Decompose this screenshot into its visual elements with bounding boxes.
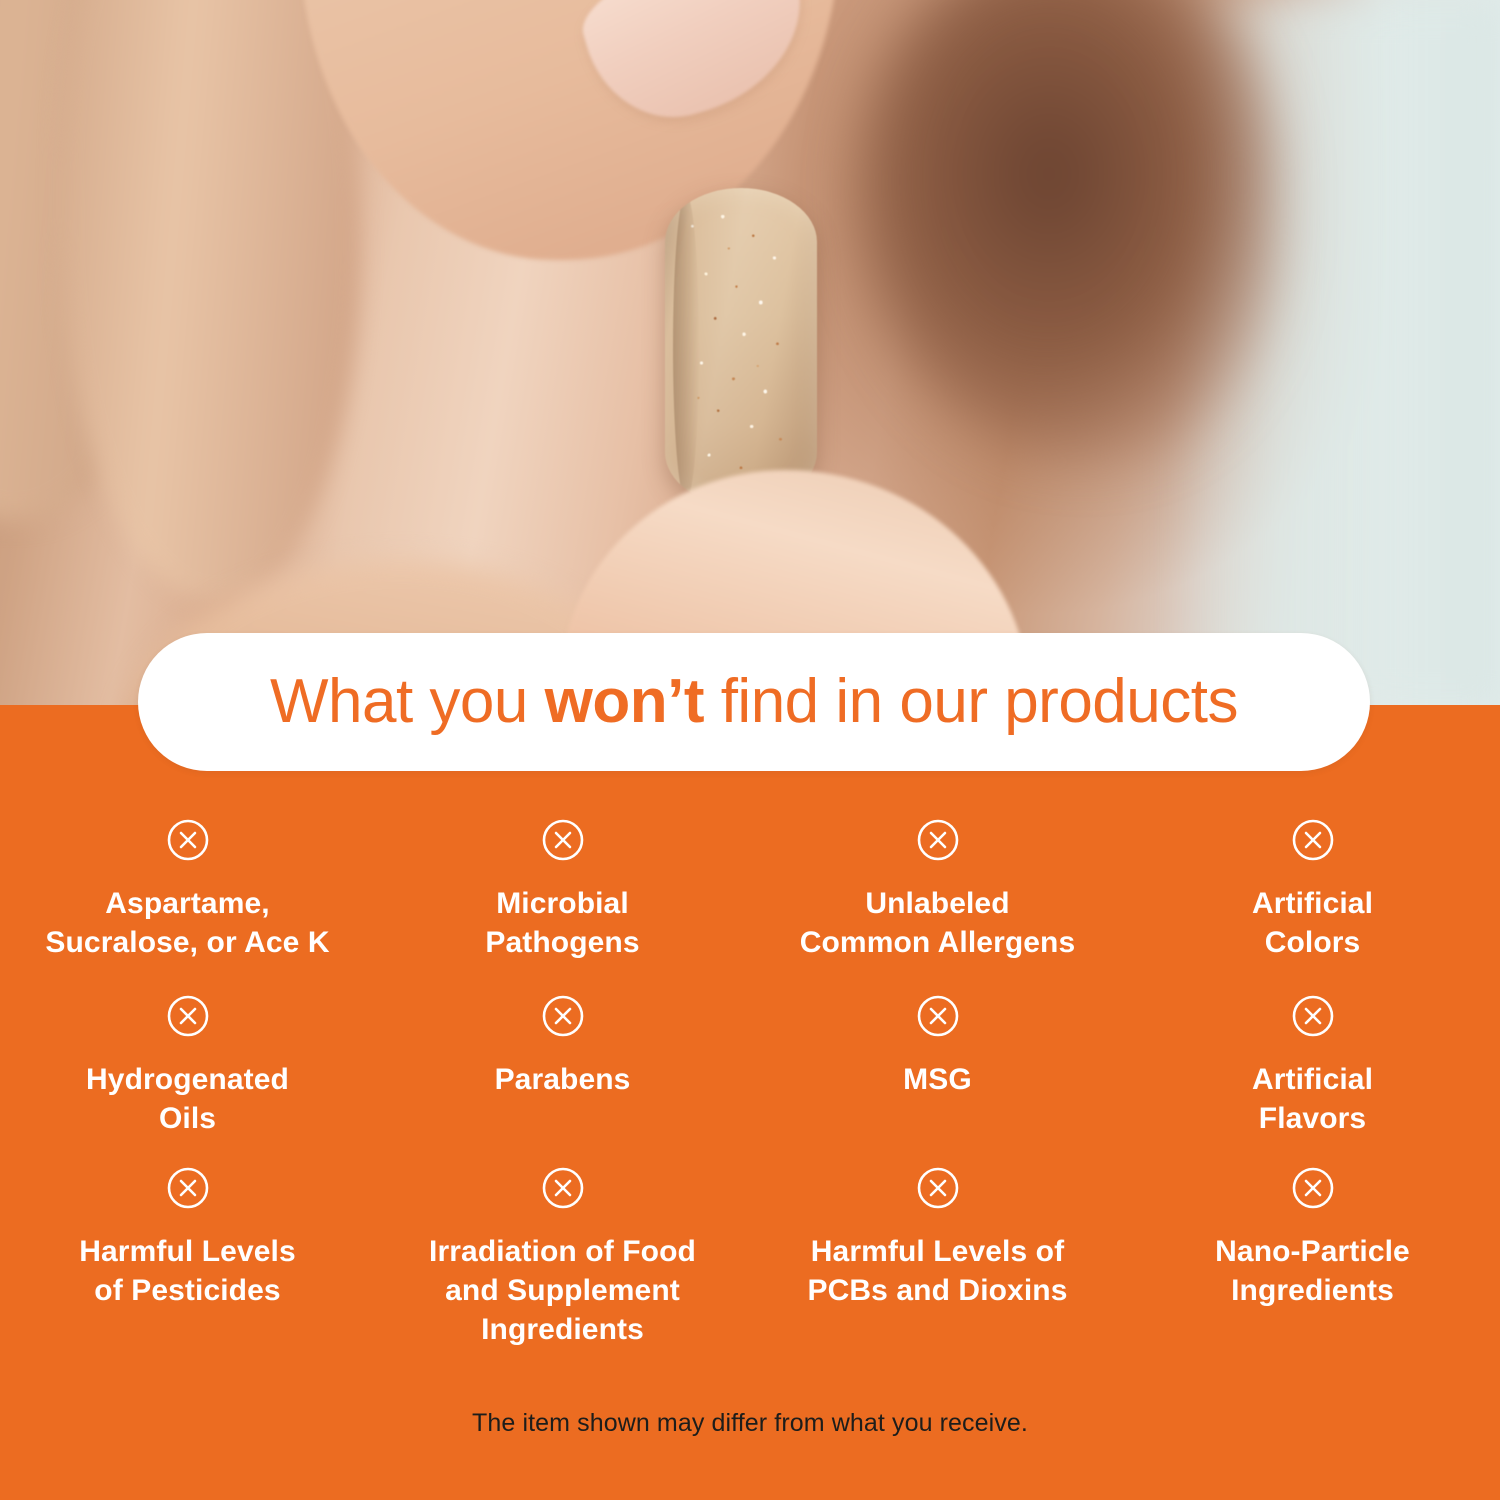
exclusion-item: Unlabeled Common Allergens [750,818,1125,994]
x-circle-icon [1291,818,1335,862]
title-banner: What you won’t find in our products [138,633,1370,771]
x-circle-icon [541,818,585,862]
exclusion-item: Harmful Levels of PCBs and Dioxins [750,1166,1125,1366]
page-title-part-1: What you [270,667,545,736]
exclusion-label: Irradiation of Food and Supplement Ingre… [429,1232,696,1349]
exclusion-label: Parabens [495,1060,631,1099]
x-circle-icon [1291,994,1335,1038]
x-circle-icon [916,1166,960,1210]
x-circle-icon [916,994,960,1038]
exclusion-label: Microbial Pathogens [485,884,639,962]
exclusion-item: MSG [750,994,1125,1166]
exclusion-label: Aspartame, Sucralose, or Ace K [45,884,329,962]
exclusion-item: Irradiation of Food and Supplement Ingre… [375,1166,750,1366]
x-circle-icon [541,1166,585,1210]
page-title: What you won’t find in our products [270,671,1238,733]
hero-photo [0,0,1500,712]
exclusion-label: Unlabeled Common Allergens [800,884,1076,962]
x-circle-icon [1291,1166,1335,1210]
exclusion-item: Aspartame, Sucralose, or Ace K [0,818,375,994]
supplement-tablet [665,188,817,506]
page-title-part-2: find in our products [704,667,1238,736]
exclusion-item: Hydrogenated Oils [0,994,375,1166]
exclusion-label: Artificial Flavors [1252,1060,1373,1138]
exclusion-label: Hydrogenated Oils [86,1060,289,1138]
x-circle-icon [541,994,585,1038]
exclusion-label: Nano-Particle Ingredients [1215,1232,1410,1310]
x-circle-icon [916,818,960,862]
exclusions-grid: Aspartame, Sucralose, or Ace K Microbial… [0,818,1500,1366]
x-circle-icon [166,1166,210,1210]
exclusion-label: Harmful Levels of Pesticides [79,1232,295,1310]
exclusion-item: Microbial Pathogens [375,818,750,994]
exclusion-item: Harmful Levels of Pesticides [0,1166,375,1366]
exclusion-label: Harmful Levels of PCBs and Dioxins [808,1232,1068,1310]
exclusion-item: Artificial Colors [1125,818,1500,994]
tablet-edge-shadow [673,194,699,500]
exclusion-item: Nano-Particle Ingredients [1125,1166,1500,1366]
exclusion-item: Artificial Flavors [1125,994,1500,1166]
x-circle-icon [166,818,210,862]
page-title-emphasis: won’t [545,667,704,736]
product-infographic: What you won’t find in our products Aspa… [0,0,1500,1500]
disclaimer-text: The item shown may differ from what you … [0,1409,1500,1438]
exclusion-item: Parabens [375,994,750,1166]
exclusion-label: MSG [903,1060,972,1099]
exclusion-label: Artificial Colors [1252,884,1373,962]
x-circle-icon [166,994,210,1038]
